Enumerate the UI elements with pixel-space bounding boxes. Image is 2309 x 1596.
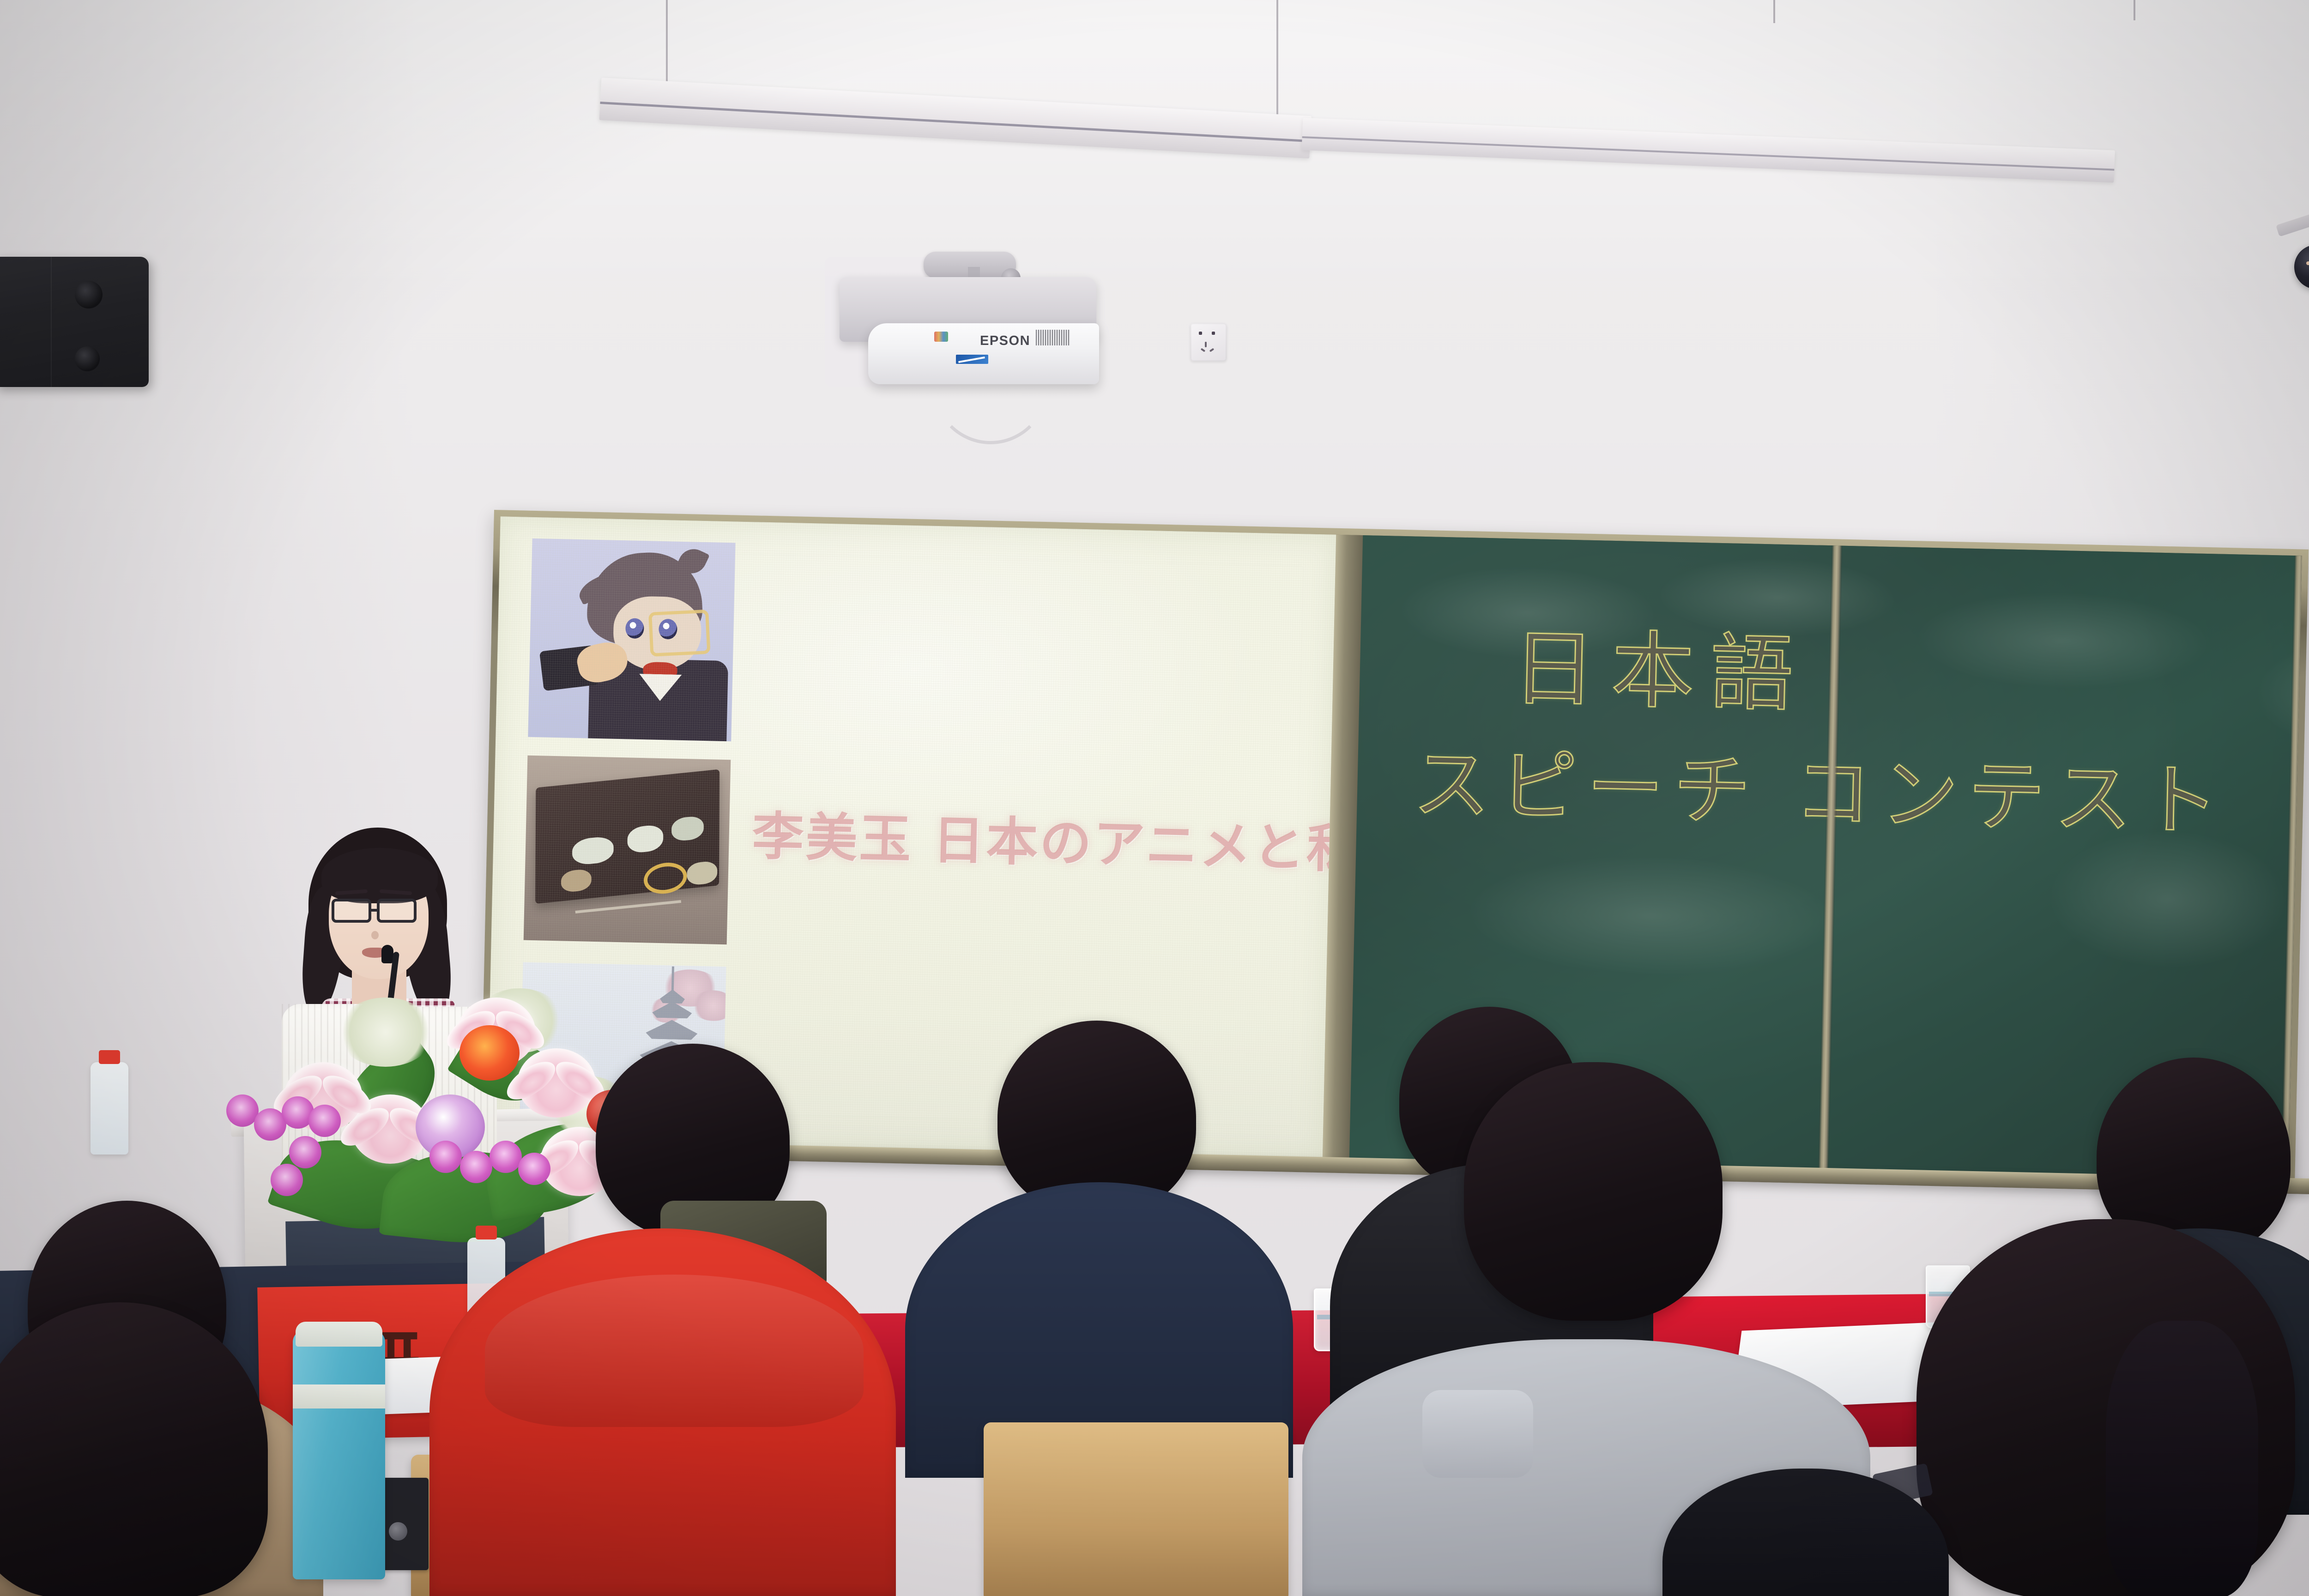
speaker-cone-icon <box>75 281 103 308</box>
jacket-hood <box>485 1275 864 1427</box>
board-panel-divider <box>1819 545 1842 1170</box>
white-lily <box>517 1048 596 1118</box>
chair-bolt <box>389 1522 407 1541</box>
magenta-orchid <box>518 1153 550 1185</box>
magenta-orchid <box>490 1141 522 1173</box>
outlet-pin <box>1209 348 1215 352</box>
magenta-orchid <box>429 1141 462 1173</box>
thermos-band <box>293 1384 385 1409</box>
bento-food-item <box>561 869 592 893</box>
light-hanger-wire <box>666 0 668 86</box>
epson-logo-icon <box>934 332 948 342</box>
magenta-orchid <box>289 1136 321 1168</box>
magenta-orchid <box>308 1105 341 1137</box>
bottle-cap <box>476 1226 497 1239</box>
light-hanger-wire <box>1773 0 1775 23</box>
presenter-glasses-icon <box>332 899 371 923</box>
ponytail <box>2106 1321 2258 1596</box>
wall-power-outlet[interactable] <box>1191 323 1227 361</box>
chalkboard-title-line1: 日本語 <box>1511 600 1811 727</box>
thermos-cap <box>296 1322 382 1347</box>
classroom-chair[interactable] <box>984 1422 1288 1596</box>
wall-speaker <box>0 257 149 387</box>
projector-brand-label: EPSON <box>980 333 1030 349</box>
bento-tray-thumbnail <box>524 756 731 945</box>
bento-tray <box>535 769 719 904</box>
bento-food-item <box>627 824 663 854</box>
bento-food-item <box>671 816 704 842</box>
magenta-orchid <box>460 1151 492 1183</box>
outlet-pin <box>1205 342 1207 347</box>
light-hanger-wire <box>2134 0 2135 20</box>
presenter-bangs <box>321 848 438 903</box>
outlet-pin <box>1212 332 1215 335</box>
hoodie-sleeve <box>1422 1390 1533 1478</box>
bento-food-item <box>687 860 717 886</box>
speaker-grill <box>51 257 52 387</box>
water-bottle[interactable] <box>91 1062 128 1155</box>
outlet-pin <box>1199 332 1202 335</box>
presenter-glasses-icon <box>377 899 417 923</box>
light-hanger-wire <box>1276 0 1278 115</box>
presenter-nose <box>371 931 379 939</box>
slide-title-text: 李美玉 日本のアニメと私 <box>751 794 1307 881</box>
orange-rose <box>459 1025 520 1081</box>
chalkboard-title-line2: スピーチ コンテスト <box>1412 721 2229 851</box>
speaker-cone-icon <box>75 346 100 371</box>
bento-food-item <box>572 835 614 865</box>
bento-food-item <box>644 861 687 896</box>
glasses-bridge <box>371 909 378 912</box>
bouquet-filler <box>337 997 434 1067</box>
thermos-flask[interactable] <box>293 1330 385 1579</box>
projector-sticker <box>956 355 988 364</box>
classroom-scene: EPSON <box>0 0 2309 1596</box>
outlet-pin <box>1201 348 1206 352</box>
magenta-orchid <box>271 1164 303 1196</box>
chopsticks <box>575 900 681 913</box>
anime-glasses-icon <box>648 610 710 657</box>
anime-character-thumbnail <box>528 538 735 741</box>
barcode-label-icon <box>1036 330 1070 345</box>
bottle-cap <box>99 1050 120 1064</box>
chalk-smudge <box>1464 852 1836 979</box>
chalk-smudge <box>1914 589 2211 692</box>
head <box>1464 1062 1723 1321</box>
